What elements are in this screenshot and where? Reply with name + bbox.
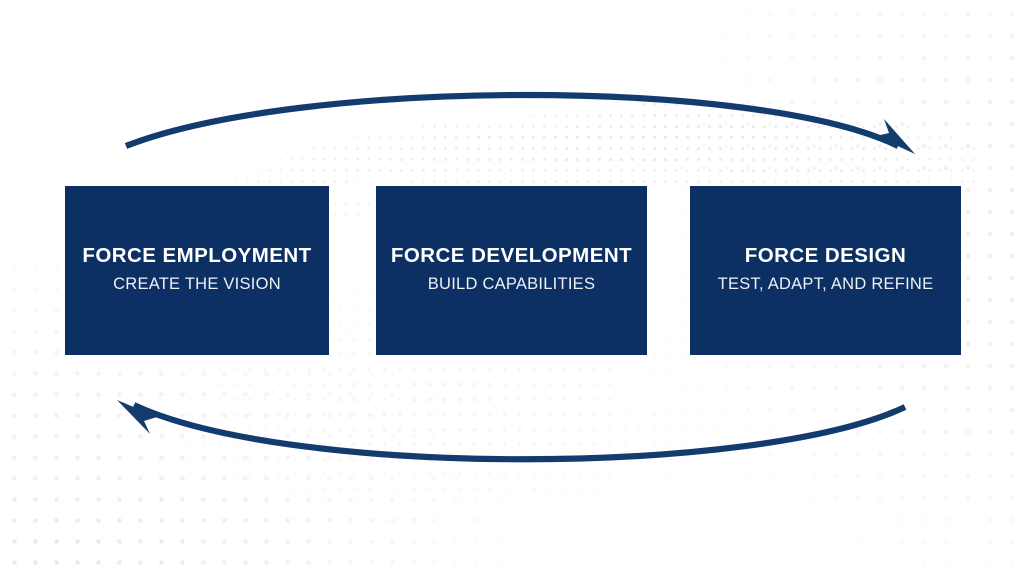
stage-box-subtitle: CREATE THE VISION xyxy=(113,275,281,293)
bottom-arrowhead-icon xyxy=(117,400,157,434)
stage-box-force-employment[interactable]: FORCE EMPLOYMENT CREATE THE VISION xyxy=(65,186,329,355)
stage-box-force-design[interactable]: FORCE DESIGN TEST, ADAPT, AND REFINE xyxy=(690,186,961,355)
stage-box-subtitle: BUILD CAPABILITIES xyxy=(428,275,595,293)
top-arrowhead-icon xyxy=(876,119,915,154)
top-arrow xyxy=(126,95,915,154)
stage-box-subtitle: TEST, ADAPT, AND REFINE xyxy=(718,275,934,293)
stage-box-title: FORCE DESIGN xyxy=(745,245,906,267)
stage-box-title: FORCE EMPLOYMENT xyxy=(82,245,311,267)
bottom-arrow xyxy=(117,400,905,459)
stage-box-title: FORCE DEVELOPMENT xyxy=(391,245,632,267)
diagram-canvas: FORCE EMPLOYMENT CREATE THE VISION FORCE… xyxy=(0,0,1024,576)
curved-arrow-left-icon xyxy=(134,405,905,459)
stage-box-force-development[interactable]: FORCE DEVELOPMENT BUILD CAPABILITIES xyxy=(376,186,647,355)
curved-arrow-right-icon xyxy=(126,95,898,146)
